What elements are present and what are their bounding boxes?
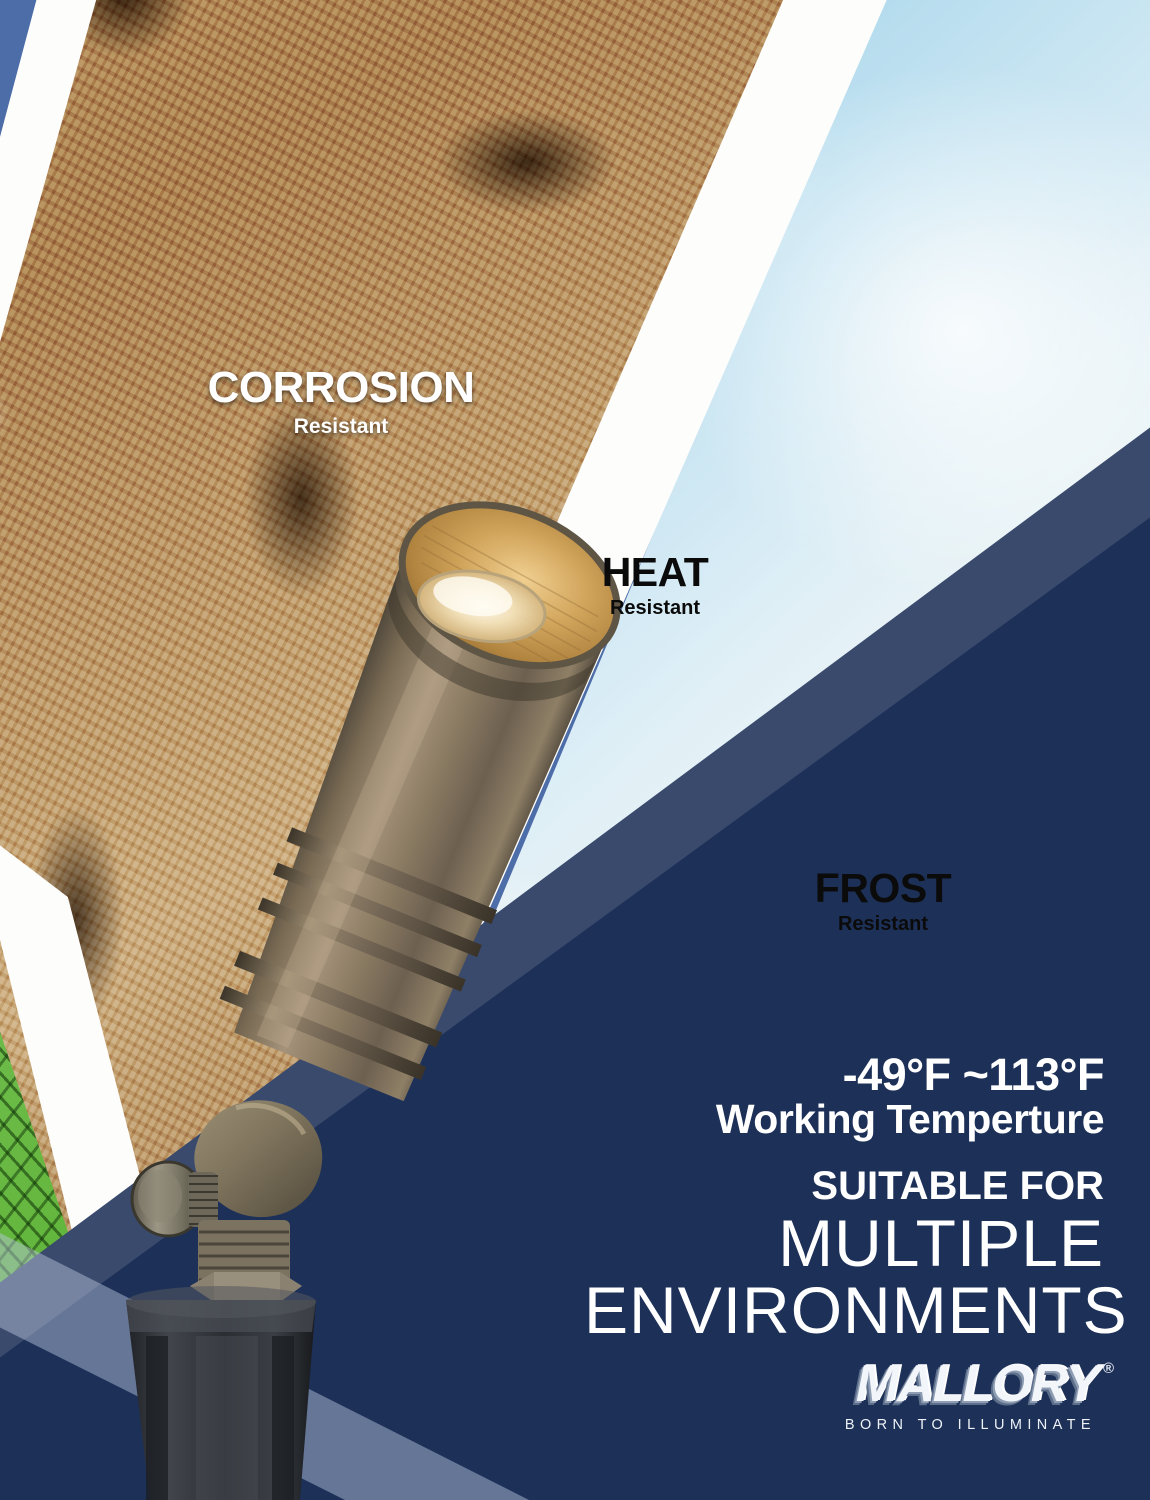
marketing-copy-block: -49°F ~113°F Working Temperture SUITABLE…	[584, 1052, 1104, 1345]
headline-line-1: MULTIPLE	[584, 1210, 1104, 1277]
badge-frost-subtitle: Resistant	[788, 914, 978, 934]
logo-tagline: BORN TO ILLUMINATE	[798, 1417, 1096, 1433]
badge-heat: HEAT Resistant	[560, 552, 750, 618]
badge-corrosion-title: CORROSION	[196, 366, 486, 410]
badge-corrosion-subtitle: Resistant	[196, 416, 486, 437]
headline-line-2: ENVIRONMENTS	[584, 1277, 1104, 1344]
badge-frost: FROST Resistant	[788, 868, 978, 934]
badge-frost-title: FROST	[788, 868, 978, 909]
logo-wordmark: MALLORY	[856, 1355, 1098, 1413]
badge-heat-title: HEAT	[560, 552, 750, 593]
badge-heat-subtitle: Resistant	[560, 598, 750, 618]
working-temperature-label: Working Temperture	[584, 1097, 1104, 1142]
product-marketing-poster: CORROSION Resistant HEAT Resistant FROST…	[0, 0, 1150, 1500]
brand-logo: MALLORY ® BORN TO ILLUMINATE	[798, 1358, 1098, 1433]
badge-corrosion: CORROSION Resistant	[196, 366, 486, 437]
registered-trademark-icon: ®	[1103, 1360, 1114, 1377]
logo-wordmark-wrap: MALLORY ®	[856, 1358, 1098, 1410]
headline-eyebrow: SUITABLE FOR	[584, 1166, 1104, 1206]
working-temperature-range: -49°F ~113°F	[584, 1052, 1104, 1099]
